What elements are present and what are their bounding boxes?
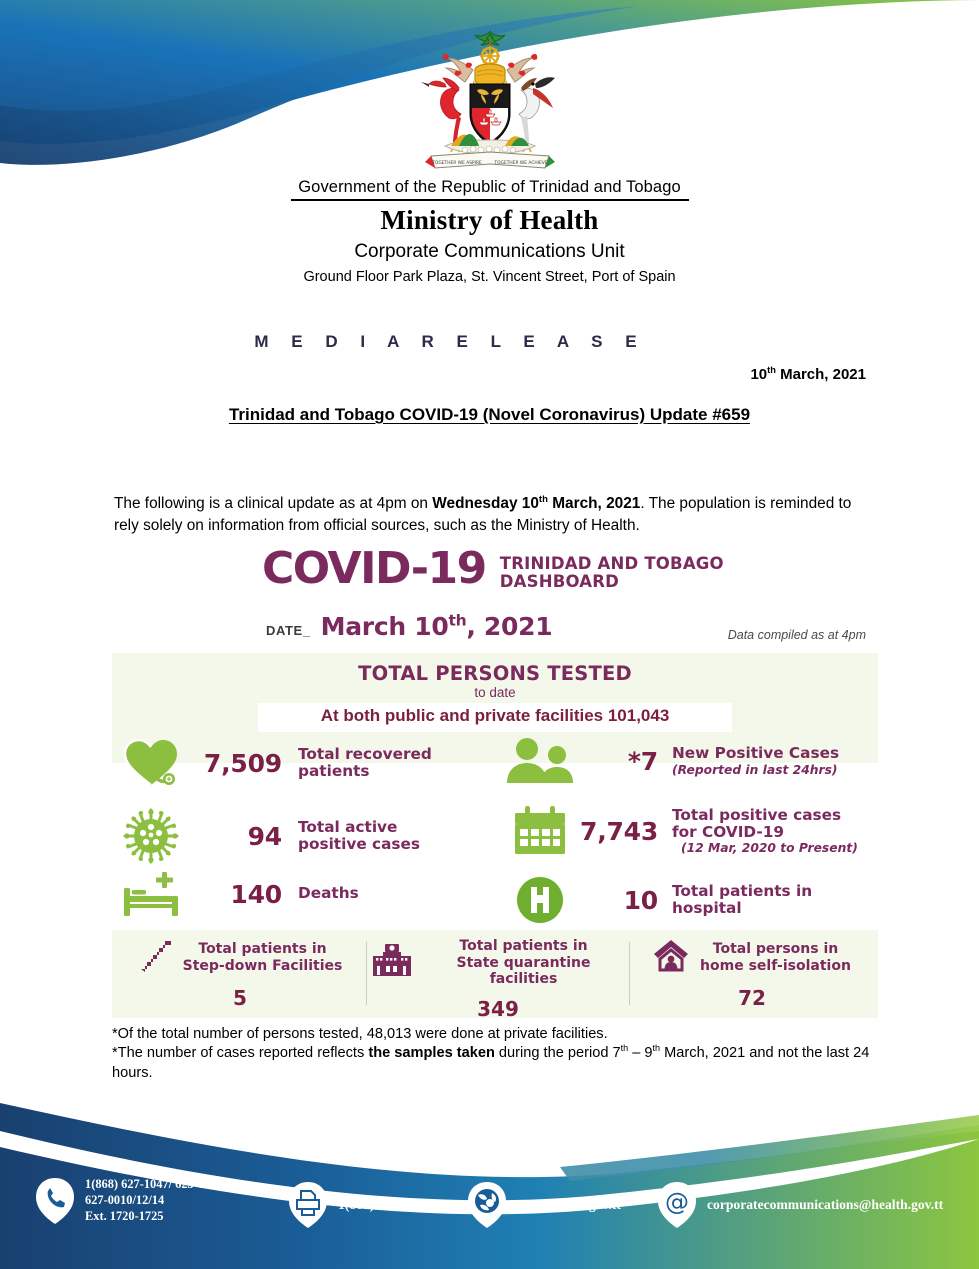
quarantine-building-icon [372,943,412,982]
svg-text:@: @ [665,1188,689,1216]
heart-stethoscope-icon [112,737,190,789]
facility-home-isolation-value: 72 [636,986,868,1010]
home-person-icon [653,938,689,977]
facility-state-quarantine: Total patients in State quarantine facil… [372,930,624,1018]
footer-email[interactable]: @ corporatecommunications@health.gov.tt [656,1181,943,1229]
facility-home-isolation-label: Total persons in home self-isolation [700,941,851,974]
stat-row-deaths: 140 Deaths [112,870,359,918]
footnote-line-1: *Of the total number of persons tested, … [112,1025,882,1044]
total-tested-subtitle: to date [112,685,878,700]
stat-row-new-cases: *7 New Positive Cases (Reported in last … [500,737,839,785]
phone-icon [34,1177,76,1225]
footer-phone-text: 1(868) 627-1047/ 623-8492 or 627-0010/12… [85,1177,237,1225]
stat-note-total-cases: (12 Mar, 2020 to Present) [681,841,858,855]
calendar-icon [500,805,580,857]
facility-step-down-label: Total patients in Step-down Facilities [183,941,343,974]
government-line: Government of the Republic of Trinidad a… [0,178,979,197]
ministry-name: Ministry of Health [0,205,979,236]
office-address: Ground Floor Park Plaza, St. Vincent Str… [0,269,979,285]
stairs-icon [138,938,172,977]
footer-website-text: www.health.gov.tt [517,1196,621,1213]
stat-label-new-cases: New Positive Cases (Reported in last 24h… [672,745,839,776]
dashboard-covid-label: COVID-19 [262,549,486,589]
facility-step-down-head: Total patients in Step-down Facilities [120,930,360,977]
intro-paragraph: The following is a clinical update as at… [114,493,869,537]
footer-fax[interactable]: 1(868) 627-1047 [287,1181,430,1229]
footer-contacts: 1(868) 627-1047/ 623-8492 or 627-0010/12… [0,1175,979,1245]
stat-label-total-cases: Total positive cases for COVID-19 (12 Ma… [672,807,858,856]
two-persons-icon [500,737,580,785]
stat-label-deaths: Deaths [298,885,359,902]
facility-state-quarantine-head: Total patients in State quarantine facil… [372,930,624,988]
footer-phone[interactable]: 1(868) 627-1047/ 623-8492 or 627-0010/12… [34,1177,237,1225]
stat-row-hospital: 10 Total patients in hospital [500,875,812,925]
dashboard-date-row: DATE_ March 10th, 2021 [266,612,552,641]
update-title: Trinidad and Tobago COVID-19 (Novel Coro… [0,405,979,425]
stat-label-hospital: Total patients in hospital [672,883,812,918]
footer-email-text: corporatecommunications@health.gov.tt [707,1196,943,1213]
footer-website[interactable]: www.health.gov.tt [466,1181,621,1229]
stat-row-active: 94 Total active positive cases [112,807,420,865]
dashboard-subtitle-line2: DASHBOARD [500,573,724,591]
stat-label-active: Total active positive cases [298,819,420,854]
facilities-divider-2 [629,942,630,1005]
facility-home-isolation: Total persons in home self-isolation 72 [636,930,868,1018]
media-release-label: M E D I A R E L E A S E [0,332,900,352]
media-release-page: TOGETHER WE ASPIRE TOGETHER WE ACHIEVE G… [0,0,979,1269]
total-tested-title: TOTAL PERSONS TESTED [112,662,878,685]
dashboard-date-value: March 10th, 2021 [321,612,553,641]
stat-value-hospital: 10 [580,886,658,915]
stat-row-recovered: 7,509 Total recovered patients [112,737,432,789]
fax-printer-icon [287,1181,329,1229]
header-divider-rule [291,199,689,201]
ministry-header-block: Government of the Republic of Trinidad a… [0,178,979,285]
facility-step-down-value: 5 [120,986,360,1010]
date-label: DATE_ [266,623,311,641]
dashboard-subtitle: TRINIDAD AND TOBAGO DASHBOARD [500,555,724,592]
at-sign-icon: @ [656,1181,698,1229]
footer-fax-text: 1(868) 627-1047 [338,1196,430,1213]
statistics-grid: 7,509 Total recovered patients [112,737,878,922]
globe-icon [466,1181,508,1229]
hospital-h-icon [500,875,580,925]
footnote-line-2: *The number of cases reported reflects t… [112,1044,882,1083]
stat-value-total-cases: 7,743 [580,817,658,846]
release-date: 10th March, 2021 [750,366,866,383]
update-title-text: Trinidad and Tobago COVID-19 (Novel Coro… [229,405,750,424]
facility-state-quarantine-value: 349 [372,997,624,1021]
stat-value-new-cases: *7 [580,747,658,776]
stat-value-active: 94 [190,822,282,851]
stat-row-total-cases: 7,743 Total positive cases for COVID-19 … [500,805,858,857]
dashboard-title: COVID-19 TRINIDAD AND TOBAGO DASHBOARD [262,549,724,592]
facility-state-quarantine-label: Total patients in State quarantine facil… [423,938,624,988]
stat-label-recovered: Total recovered patients [298,746,432,781]
svg-text:TOGETHER WE ASPIRE: TOGETHER WE ASPIRE [431,160,482,166]
trinidad-tobago-coat-of-arms-icon: TOGETHER WE ASPIRE TOGETHER WE ACHIEVE [415,28,565,173]
hospital-bed-icon [112,870,190,918]
data-compiled-note: Data compiled as at 4pm [728,628,866,642]
stat-note-new-cases: (Reported in last 24hrs) [672,763,839,777]
stat-value-deaths: 140 [190,880,282,909]
virus-icon [112,807,190,865]
svg-text:TOGETHER WE ACHIEVE: TOGETHER WE ACHIEVE [493,160,547,166]
dashboard-subtitle-line1: TRINIDAD AND TOBAGO [500,555,724,573]
stat-value-recovered: 7,509 [190,749,282,778]
total-tested-value: At both public and private facilities 10… [258,706,732,726]
unit-name: Corporate Communications Unit [0,241,979,263]
coat-of-arms-container: TOGETHER WE ASPIRE TOGETHER WE ACHIEVE [0,28,979,178]
facilities-divider-1 [366,942,367,1005]
facility-home-isolation-head: Total persons in home self-isolation [636,930,868,977]
footnotes: *Of the total number of persons tested, … [112,1025,882,1083]
facility-step-down: Total patients in Step-down Facilities 5 [120,930,360,1018]
